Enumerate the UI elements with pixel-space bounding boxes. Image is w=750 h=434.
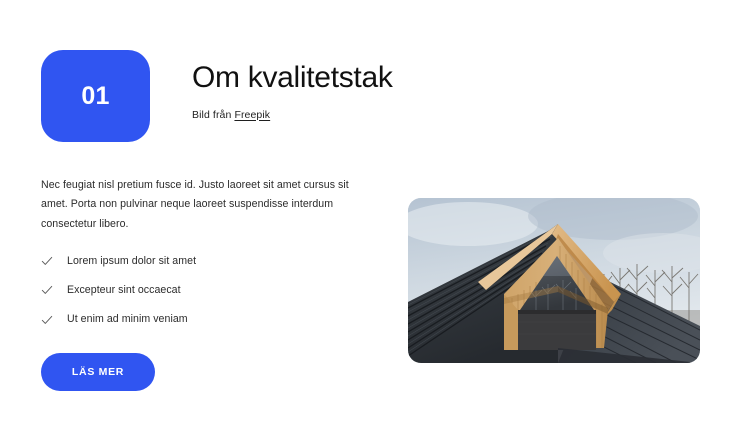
page-root: 01 Om kvalitetstak Bild från Freepik Nec… [0, 0, 750, 434]
list-item-label: Lorem ipsum dolor sit amet [67, 255, 196, 268]
list-item: Excepteur sint occaecat [41, 284, 361, 297]
check-icon [41, 314, 53, 326]
image-credit: Bild från Freepik [192, 109, 393, 121]
freepik-link[interactable]: Freepik [234, 109, 270, 121]
content-column: Nec feugiat nisl pretium fusce id. Justo… [41, 176, 361, 391]
page-title: Om kvalitetstak [192, 61, 393, 95]
roof-photo-image [408, 198, 700, 363]
list-item-label: Ut enim ad minim veniam [67, 313, 188, 326]
list-item: Ut enim ad minim veniam [41, 313, 361, 326]
check-icon [41, 255, 53, 267]
step-number-badge: 01 [41, 50, 150, 142]
step-number-label: 01 [81, 84, 109, 109]
body-paragraph: Nec feugiat nisl pretium fusce id. Justo… [41, 176, 361, 234]
list-item: Lorem ipsum dolor sit amet [41, 255, 361, 268]
header: 01 Om kvalitetstak Bild från Freepik [41, 50, 393, 142]
title-block: Om kvalitetstak Bild från Freepik [192, 50, 393, 121]
roof-photo [408, 198, 700, 363]
list-item-label: Excepteur sint occaecat [67, 284, 181, 297]
check-icon [41, 284, 53, 296]
feature-list: Lorem ipsum dolor sit amet Excepteur sin… [41, 255, 361, 326]
read-more-button[interactable]: LÄS MER [41, 353, 155, 391]
image-credit-prefix: Bild från [192, 109, 234, 121]
